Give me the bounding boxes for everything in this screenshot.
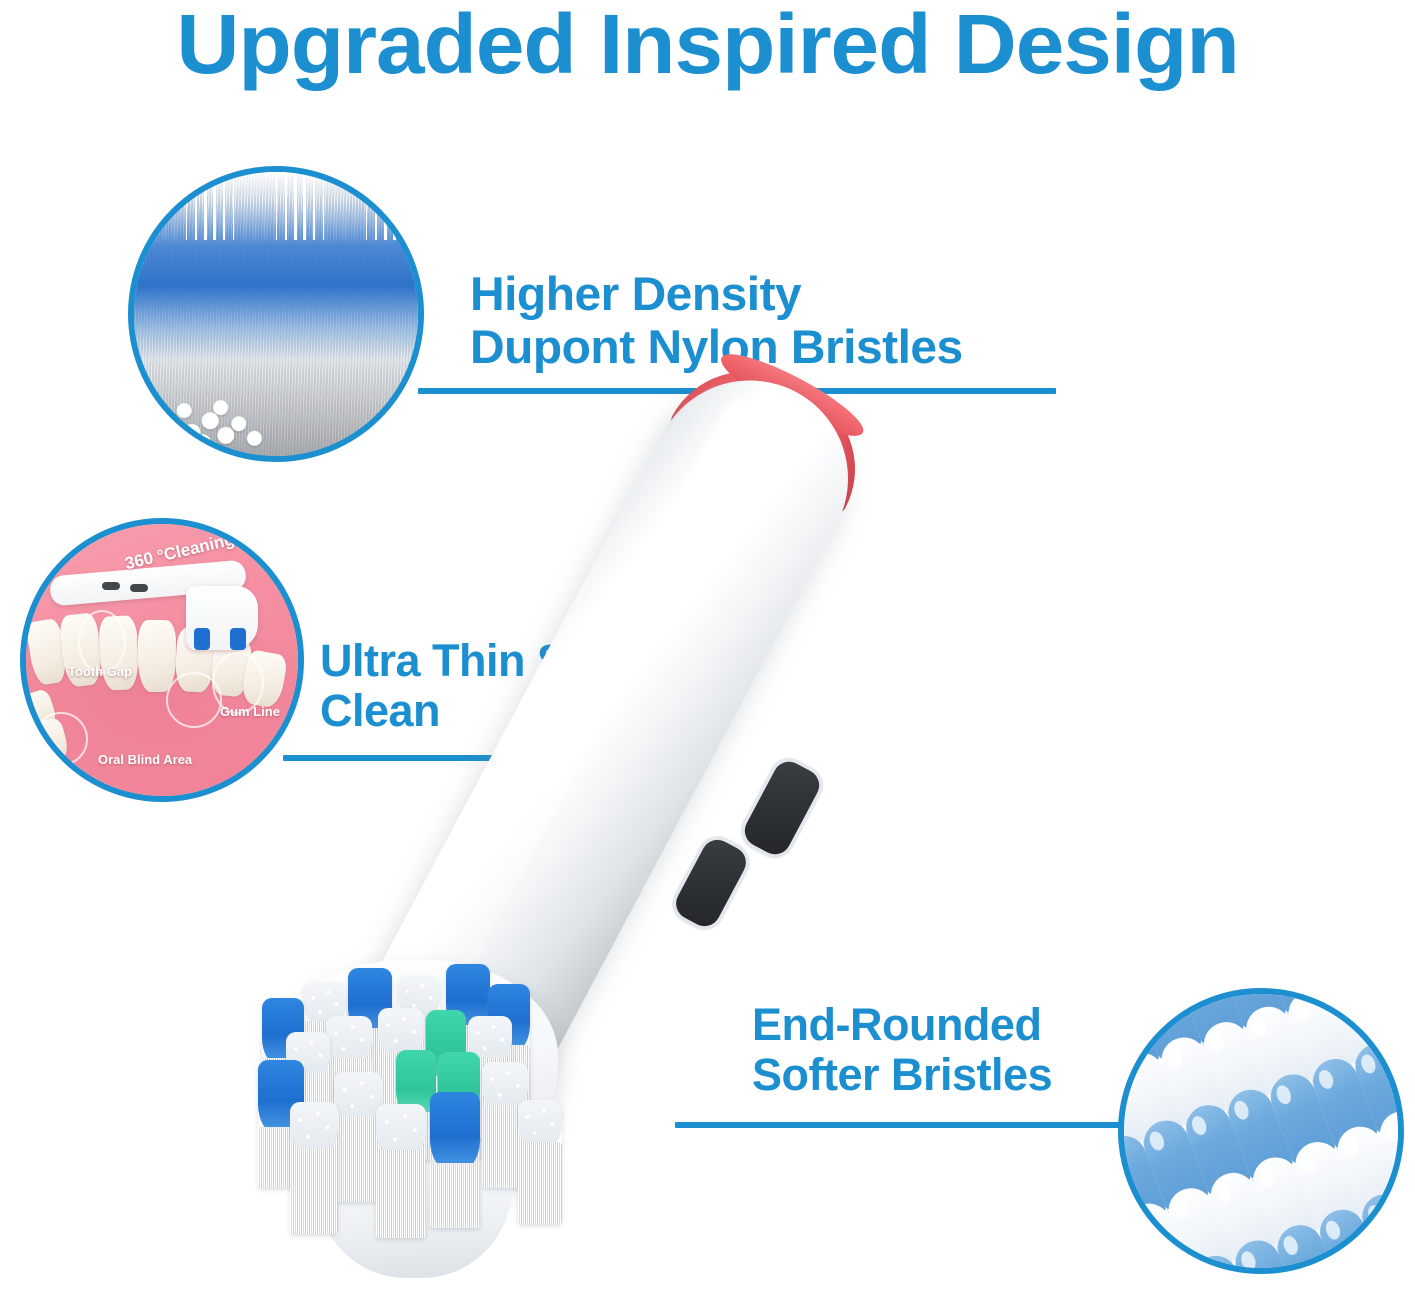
bristle-tuft	[376, 1104, 426, 1238]
callout-label-density: Higher Density Dupont Nylon Bristles	[470, 268, 963, 373]
brush-bristle-blue	[194, 628, 210, 650]
gum-label-tooth-gap: Tooth Gap	[68, 664, 132, 679]
grip-slot-upper	[739, 756, 825, 860]
bristle-tips-overlay	[128, 166, 424, 240]
rounded-tips-circle-icon	[1118, 988, 1404, 1274]
gum-label-oral-blind-area: Oral Blind Area	[98, 752, 192, 767]
bristle-tuft	[290, 1102, 338, 1234]
brush-slot	[102, 582, 120, 590]
bristle-tuft	[518, 1100, 562, 1224]
bristle-tuft	[430, 1092, 480, 1228]
bristle-tuft	[334, 1072, 382, 1202]
page-title: Upgraded Inspired Design	[0, 0, 1415, 93]
tooth	[138, 620, 176, 692]
oral-blind-ring	[34, 712, 88, 766]
handle-highlight	[405, 393, 768, 1029]
rounded-tips-grid	[1118, 988, 1404, 1274]
grip-slot-lower	[671, 834, 752, 932]
callout-label-endrounded: End-Rounded Softer Bristles	[752, 1000, 1052, 1101]
brush-slot	[130, 584, 148, 592]
